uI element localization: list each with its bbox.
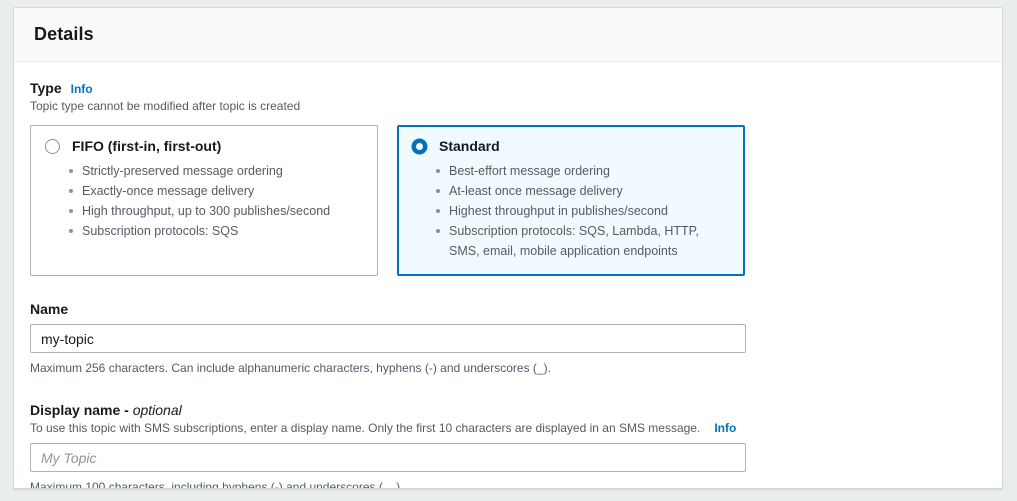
panel-body: Type Info Topic type cannot be modified …	[14, 62, 1002, 489]
display-name-constraint-text: Maximum 100 characters, including hyphen…	[30, 479, 982, 489]
type-option-standard[interactable]: Standard Best-effort message ordering At…	[397, 125, 745, 276]
name-field-block: Name Maximum 256 characters. Can include…	[30, 301, 982, 376]
name-constraint-text: Maximum 256 characters. Can include alph…	[30, 360, 982, 376]
display-name-label-text: Display name -	[30, 402, 133, 418]
panel-header: Details	[14, 8, 1002, 62]
name-label-row: Name	[30, 301, 982, 317]
list-item: Best-effort message ordering	[449, 161, 730, 181]
type-tiles: FIFO (first-in, first-out) Strictly-pres…	[30, 125, 982, 276]
type-option-fifo[interactable]: FIFO (first-in, first-out) Strictly-pres…	[30, 125, 378, 276]
name-input-wrapper	[30, 324, 982, 353]
standard-bullet-list: Best-effort message ordering At-least on…	[412, 161, 730, 261]
type-info-link[interactable]: Info	[71, 82, 93, 96]
display-name-field-block: Display name - optional To use this topi…	[30, 402, 982, 489]
details-panel: Details Type Info Topic type cannot be m…	[13, 7, 1003, 489]
fifo-tile-head: FIFO (first-in, first-out)	[45, 138, 363, 154]
display-name-optional-text: optional	[133, 402, 182, 418]
fifo-title: FIFO (first-in, first-out)	[72, 138, 221, 154]
list-item: Subscription protocols: SQS, Lambda, HTT…	[449, 221, 730, 261]
radio-fifo-icon[interactable]	[45, 139, 60, 154]
list-item: Strictly-preserved message ordering	[82, 161, 363, 181]
list-item: Highest throughput in publishes/second	[449, 201, 730, 221]
fifo-bullet-list: Strictly-preserved message ordering Exac…	[45, 161, 363, 241]
type-description: Topic type cannot be modified after topi…	[30, 98, 982, 114]
list-item: High throughput, up to 300 publishes/sec…	[82, 201, 363, 221]
display-name-input[interactable]	[30, 443, 746, 472]
display-name-input-wrapper	[30, 443, 982, 472]
list-item: Subscription protocols: SQS	[82, 221, 363, 241]
list-item: At-least once message delivery	[449, 181, 730, 201]
page-title: Details	[34, 24, 94, 45]
type-label: Type	[30, 80, 62, 96]
display-name-desc-row: To use this topic with SMS subscriptions…	[30, 420, 982, 436]
display-name-description: To use this topic with SMS subscriptions…	[30, 420, 700, 436]
display-name-label-row: Display name - optional	[30, 402, 982, 418]
type-label-row: Type Info	[30, 80, 982, 96]
type-field-block: Type Info Topic type cannot be modified …	[30, 80, 982, 276]
radio-standard-icon[interactable]	[412, 139, 427, 154]
standard-tile-head: Standard	[412, 138, 730, 154]
name-label: Name	[30, 301, 68, 317]
list-item: Exactly-once message delivery	[82, 181, 363, 201]
standard-title: Standard	[439, 138, 500, 154]
page-root: Details Type Info Topic type cannot be m…	[0, 0, 1017, 501]
topic-name-input[interactable]	[30, 324, 746, 353]
display-name-label: Display name - optional	[30, 402, 182, 418]
display-name-info-link[interactable]: Info	[714, 421, 736, 435]
